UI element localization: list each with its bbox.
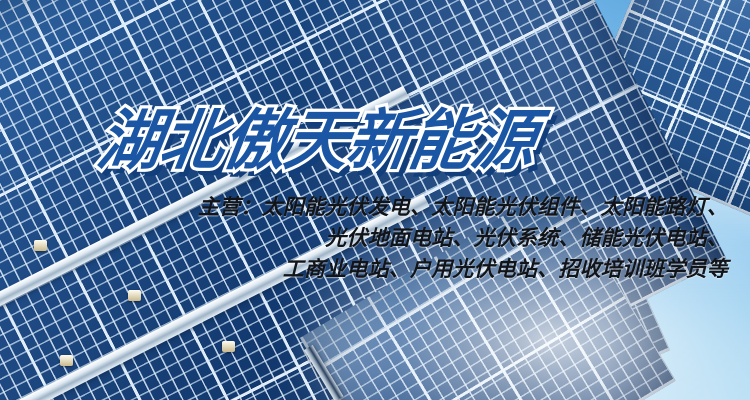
business-scope-line-3: 工商业电站、户用光伏电站、招收培训班学员等 <box>0 254 728 285</box>
business-scope-line-2: 光伏地面电站、光伏系统、储能光伏电站、 <box>0 223 728 254</box>
panel-mounting-clip <box>128 290 141 301</box>
business-scope-text: 主营：太阳能光伏发电、太阳能光伏组件、太阳能路灯、 光伏地面电站、光伏系统、储能… <box>0 192 728 285</box>
company-title: 湖北傲天新能源 <box>94 109 540 175</box>
solar-company-banner: 湖北傲天新能源 湖北傲天新能源 主营：太阳能光伏发电、太阳能光伏组件、太阳能路灯… <box>0 0 750 400</box>
panel-mounting-clip <box>60 355 73 366</box>
business-scope-line-1: 主营：太阳能光伏发电、太阳能光伏组件、太阳能路灯、 <box>0 192 728 223</box>
panel-mounting-clip <box>222 341 235 352</box>
